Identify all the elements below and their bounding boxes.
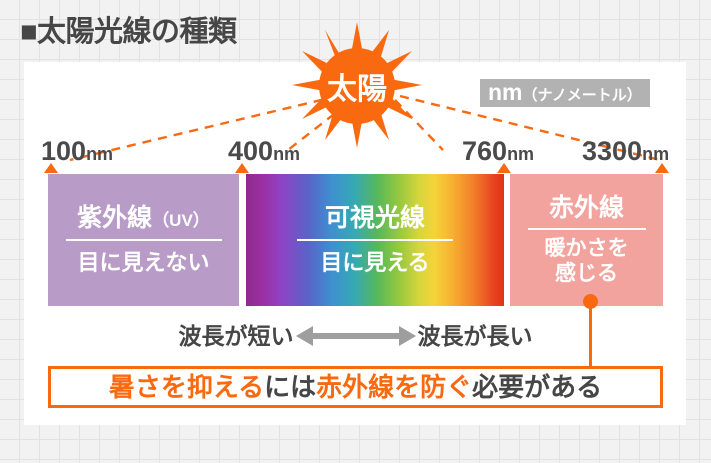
- conclusion-box: 暑さを抑えるには赤外線を防ぐ必要がある: [48, 366, 663, 408]
- infrared-connector-line: [589, 300, 592, 367]
- tick-value: 100: [41, 136, 86, 166]
- band-visible-name: 可視光線: [325, 204, 425, 233]
- tick-unit: nm: [507, 144, 534, 164]
- infrared-connector-dot: [583, 294, 598, 309]
- band-ir-name: 赤外線: [549, 194, 624, 223]
- tick-label-100nm: 100nm: [41, 138, 113, 165]
- band-ir-desc-line1: 暖かさを: [545, 236, 629, 261]
- band-visible-light: 可視光線 目に見える: [246, 174, 504, 306]
- infographic-canvas: ■太陽光線の種類: [0, 0, 711, 463]
- band-uv-desc: 目に見えない: [77, 250, 209, 276]
- conclusion-part-4: 必要がある: [472, 374, 602, 400]
- wavelength-long-label: 波長が長い: [418, 325, 533, 348]
- tick-label-760nm: 760nm: [462, 138, 534, 165]
- conclusion-part-1: 暑さを抑える: [109, 374, 264, 400]
- band-ir-desc-line2: 感じる: [555, 261, 618, 286]
- band-uv-name: 紫外線（UV）: [77, 204, 210, 233]
- tick-value: 3300: [582, 136, 642, 166]
- band-uv-divider: [66, 239, 222, 241]
- unit-legend-main: nm: [488, 79, 523, 105]
- tick-marker-100nm: [44, 163, 58, 173]
- wavelength-direction-row: 波長が短い 波長が長い: [48, 318, 663, 354]
- page-title: ■太陽光線の種類: [20, 14, 237, 50]
- tick-label-3300nm: 3300nm: [582, 138, 669, 165]
- tick-unit: nm: [273, 144, 300, 164]
- tick-value: 760: [462, 136, 507, 166]
- wavelength-double-arrow-icon: [296, 323, 416, 349]
- band-visible-desc: 目に見える: [320, 250, 429, 276]
- band-visible-divider: [297, 239, 453, 241]
- band-ultraviolet: 紫外線（UV） 目に見えない: [48, 174, 239, 306]
- tick-unit: nm: [642, 144, 669, 164]
- band-ir-divider: [528, 228, 646, 230]
- unit-legend-reading: （ナノメートル）: [523, 87, 642, 104]
- conclusion-part-2: には: [264, 374, 316, 400]
- tick-marker-3300nm: [655, 163, 669, 173]
- sun-graphic: 太陽: [292, 22, 422, 148]
- tick-value: 400: [228, 136, 273, 166]
- wavelength-short-label: 波長が短い: [179, 325, 294, 348]
- band-uv-name-paren: （UV）: [152, 211, 210, 230]
- unit-legend-chip: nm（ナノメートル）: [480, 79, 650, 107]
- tick-unit: nm: [86, 144, 113, 164]
- sun-label: 太陽: [319, 48, 395, 124]
- tick-marker-760nm: [497, 163, 511, 173]
- tick-label-400nm: 400nm: [228, 138, 300, 165]
- band-infrared: 赤外線 暖かさを 感じる: [510, 174, 663, 306]
- tick-marker-400nm: [235, 163, 249, 173]
- conclusion-part-3: 赤外線を防ぐ: [316, 374, 472, 400]
- band-uv-name-text: 紫外線: [77, 204, 152, 232]
